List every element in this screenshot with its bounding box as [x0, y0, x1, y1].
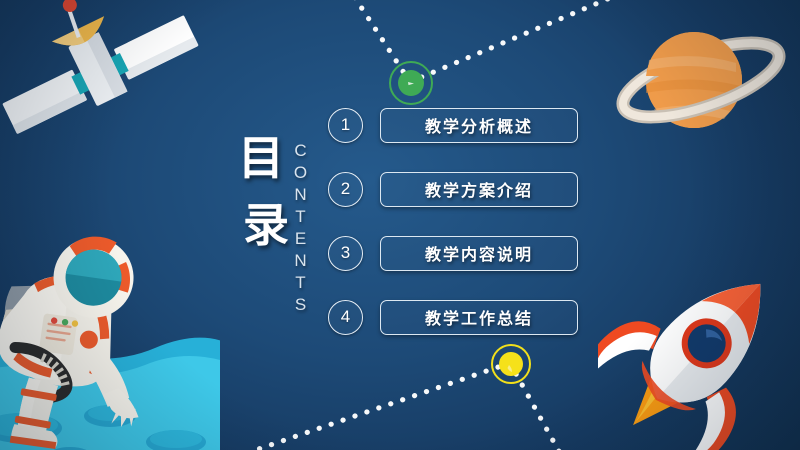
- page-title: 目 录: [230, 135, 292, 249]
- agenda-number-badge: 2: [328, 172, 363, 207]
- agenda-slide: 目 录 CONTENTS 1 教学分析概述 2 教学方案介绍 3 教学内容说明 …: [0, 0, 800, 450]
- contents-block: 目 录 CONTENTS 1 教学分析概述 2 教学方案介绍 3 教学内容说明 …: [228, 105, 578, 340]
- list-item[interactable]: 1 教学分析概述: [328, 105, 578, 145]
- contents-subtitle: CONTENTS: [290, 141, 310, 317]
- page-title-char-1: 目: [230, 135, 292, 182]
- agenda-item-label[interactable]: 教学内容说明: [380, 236, 578, 271]
- agenda-list: 1 教学分析概述 2 教学方案介绍 3 教学内容说明 4 教学工作总结: [328, 105, 578, 361]
- page-title-char-2: 录: [240, 202, 292, 249]
- list-item[interactable]: 2 教学方案介绍: [328, 169, 578, 209]
- agenda-item-label[interactable]: 教学方案介绍: [380, 172, 578, 207]
- agenda-number-badge: 4: [328, 300, 363, 335]
- agenda-number-badge: 1: [328, 108, 363, 143]
- agenda-item-label[interactable]: 教学分析概述: [380, 108, 578, 143]
- dotted-line-3: [244, 363, 510, 450]
- agenda-item-label[interactable]: 教学工作总结: [380, 300, 578, 335]
- list-item[interactable]: 3 教学内容说明: [328, 233, 578, 273]
- contents-heading: 目 录 CONTENTS: [228, 135, 328, 310]
- list-item[interactable]: 4 教学工作总结: [328, 297, 578, 337]
- dotted-line-2: [410, 0, 648, 82]
- agenda-number-badge: 3: [328, 236, 363, 271]
- green-node: [383, 55, 439, 111]
